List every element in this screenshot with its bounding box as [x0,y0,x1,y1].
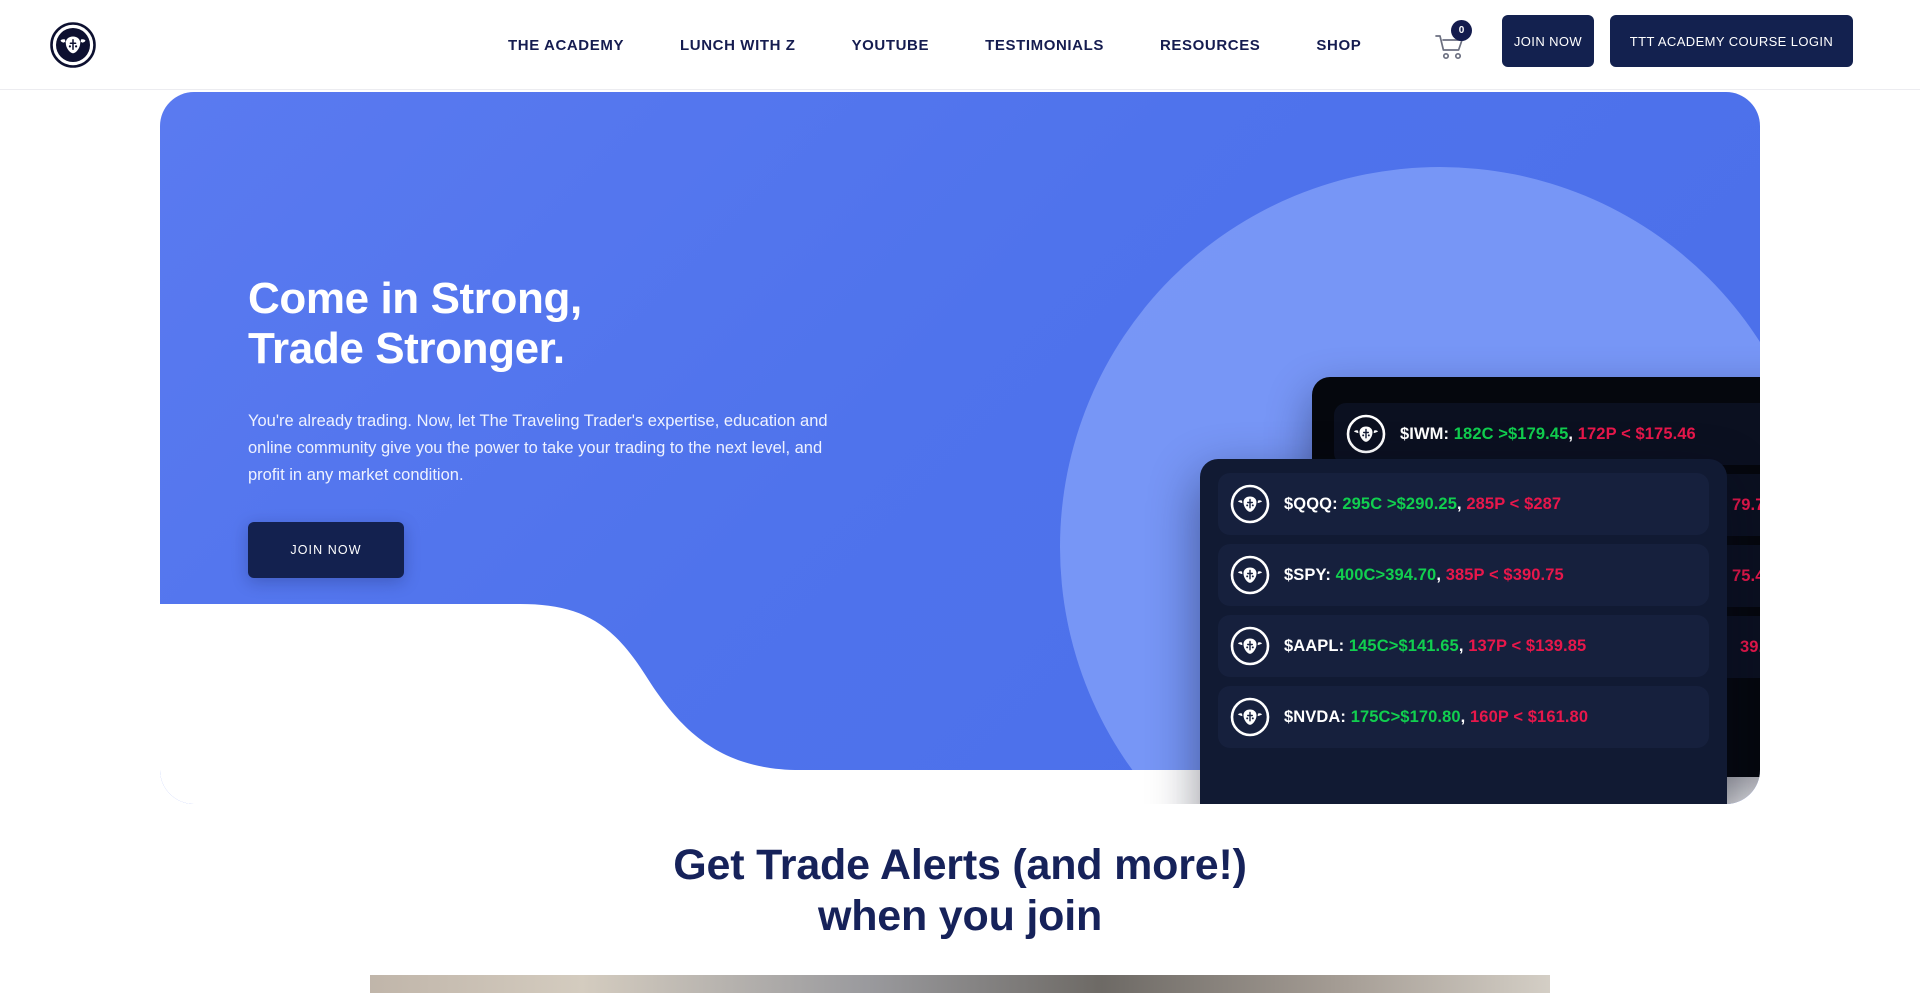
nav-testimonials[interactable]: TESTIMONIALS [957,37,1132,54]
hero-title-line-1: Come in Strong, [248,274,582,323]
alert-separator: , [1459,637,1468,655]
alert-put: 39.85 [1740,638,1760,656]
trade-alerts-section: Get Trade Alerts (and more!) when you jo… [0,840,1920,941]
join-now-button-hero[interactable]: JOIN NOW [248,522,404,578]
hero-title-line-2: Trade Stronger. [248,324,565,373]
hero-text-block: Come in Strong, Trade Stronger. You're a… [248,274,888,578]
trade-alert-row: $SPY: 400C>394.70, 385P < $390.75 [1218,544,1709,606]
alert-call: 145C>$141.65 [1349,637,1459,655]
alert-put: 137P < $139.85 [1468,637,1586,655]
bull-logo-icon [1346,414,1386,454]
nav-youtube[interactable]: YOUTUBE [824,37,958,54]
nav-lunch-with-z[interactable]: LUNCH WITH Z [652,37,824,54]
alert-put: 79.75 [1732,496,1760,514]
alert-separator: , [1457,495,1466,513]
alert-call: 175C>$170.80 [1351,708,1461,726]
main-navigation: THE ACADEMY LUNCH WITH Z YOUTUBE TESTIMO… [480,0,1389,90]
hero-paragraph: You're already trading. Now, let The Tra… [248,408,848,488]
trade-alert-row: $QQQ: 295C >$290.25, 285P < $287 [1218,473,1709,535]
trade-alert-row: $IWM: 182C >$179.45, 172P < $175.46 [1334,403,1760,465]
nav-resources[interactable]: RESOURCES [1132,37,1288,54]
alert-ticker: $IWM: [1400,425,1449,443]
join-now-button-header[interactable]: JOIN NOW [1502,15,1594,67]
alert-separator: , [1461,708,1470,726]
cart-button[interactable]: 0 [1434,30,1468,64]
alert-put: 172P < $175.46 [1578,425,1696,443]
alert-ticker: $NVDA: [1284,708,1346,726]
trade-alert-row: $AAPL: 145C>$141.65, 137P < $139.85 [1218,615,1709,677]
section-photo-top-edge [370,975,1550,993]
alert-put: 285P < $287 [1466,495,1561,513]
bull-logo-icon [1230,555,1270,595]
bull-logo-icon [1230,626,1270,666]
academy-login-button[interactable]: TTT ACADEMY COURSE LOGIN [1610,15,1853,67]
alert-call: 295C >$290.25 [1342,495,1457,513]
section-title-line-2: when you join [818,892,1102,940]
nav-the-academy[interactable]: THE ACADEMY [480,37,652,54]
trade-alert-row: $NVDA: 175C>$170.80, 160P < $161.80 [1218,686,1709,748]
bull-logo-icon [1230,484,1270,524]
alert-ticker: $AAPL: [1284,637,1344,655]
alert-call: 182C >$179.45 [1454,425,1569,443]
section-title: Get Trade Alerts (and more!) when you jo… [0,840,1920,941]
alert-put: 160P < $161.80 [1470,708,1588,726]
alert-ticker: $SPY: [1284,566,1331,584]
alert-call: 400C>394.70 [1336,566,1437,584]
cart-count-badge: 0 [1451,20,1472,41]
hero-title: Come in Strong, Trade Stronger. [248,274,888,374]
section-title-line-1: Get Trade Alerts (and more!) [673,841,1246,889]
alert-separator: , [1436,566,1445,584]
site-header: THE ACADEMY LUNCH WITH Z YOUTUBE TESTIMO… [0,0,1920,90]
hero-section: Come in Strong, Trade Stronger. You're a… [160,92,1760,804]
alert-put: 75.46 [1732,567,1760,585]
bull-logo-svg [50,22,96,68]
trade-alert-card-front: $QQQ: 295C >$290.25, 285P < $287 $SPY: 4… [1200,459,1727,804]
nav-shop[interactable]: SHOP [1288,37,1389,54]
bull-logo-icon [1230,697,1270,737]
bull-logo-icon[interactable] [50,22,96,68]
alert-separator: , [1568,425,1577,443]
alert-ticker: $QQQ: [1284,495,1338,513]
alert-put: 385P < $390.75 [1446,566,1564,584]
